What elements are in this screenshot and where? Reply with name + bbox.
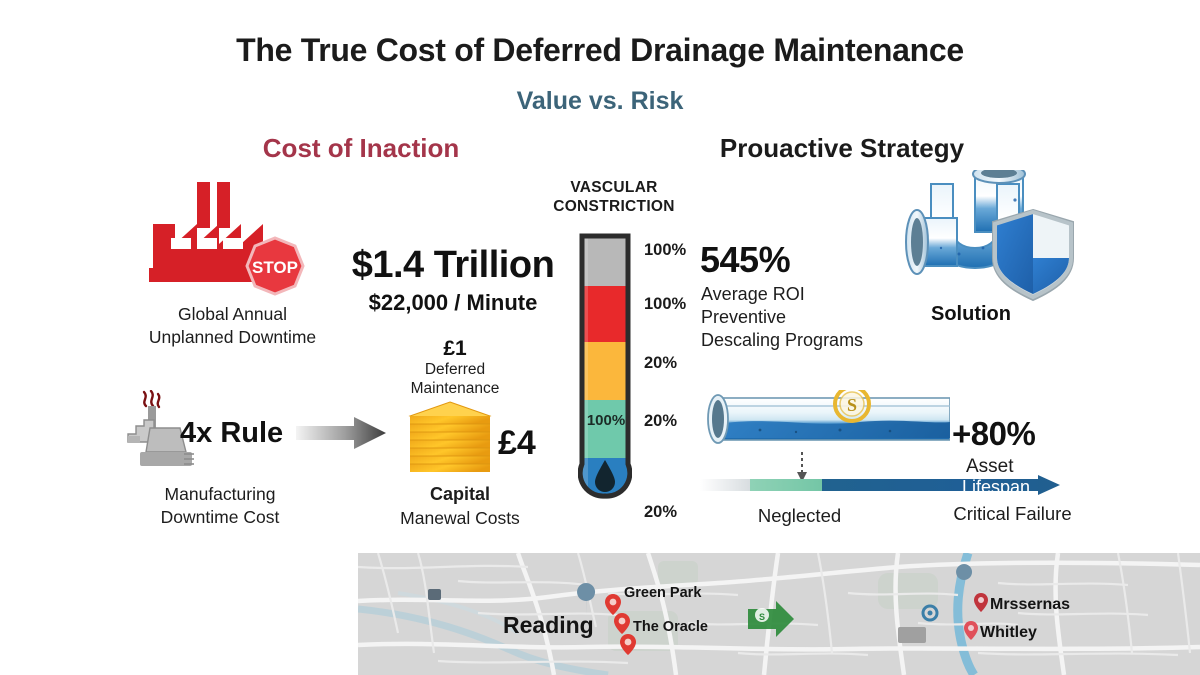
elbow-pipe-shield-icon (897, 170, 1077, 315)
page-subtitle: Value vs. Risk (0, 87, 1200, 116)
capital-caption-line2: Manewal Costs (380, 507, 540, 530)
deferred-caption-line1: Deferred (380, 361, 530, 380)
factory-stop-icon: STOP (145, 182, 310, 297)
page-title: The True Cost of Deferred Drainage Maint… (0, 32, 1200, 69)
annual-downtime-value: $1.4 Trillion (338, 244, 568, 287)
four-x-rule-label: 4x Rule (180, 417, 283, 450)
solution-caption: Solution (905, 303, 1037, 326)
svg-text:S: S (759, 612, 765, 622)
map-label-whitley: Whitley (980, 624, 1037, 642)
vial-side-percent-3: 20% (644, 354, 677, 373)
map-pin-the-oracle[interactable] (614, 613, 630, 634)
map-pin-green-park[interactable] (605, 594, 621, 615)
mfg-caption-line2: Downtime Cost (130, 506, 310, 529)
svg-text:S: S (847, 395, 857, 415)
mfg-caption-line1: Manufacturing (130, 483, 310, 506)
vial-side-percent-4: 20% (644, 412, 677, 431)
deferred-caption-line2: Maintenance (380, 380, 530, 399)
map-city-label: Reading (503, 612, 594, 639)
deferred-caption: Deferred Maintenance (380, 361, 530, 399)
lifespan-value: +80% (952, 415, 1035, 453)
svg-text:STOP: STOP (252, 258, 298, 277)
roi-value: 545% (700, 239, 790, 281)
lifespan-word-lifespan: Lifespan (962, 477, 1030, 498)
vial-title-line2: CONSTRICTION (528, 197, 700, 216)
infographic-canvas: The True Cost of Deferred Drainage Maint… (0, 0, 1200, 675)
lifespan-word-asset: Asset (966, 456, 1014, 478)
map-label-green-park: Green Park (624, 585, 701, 601)
vial-title-line1: VASCULAR (528, 178, 700, 197)
map-label-mrssernas: Mrssernas (990, 596, 1070, 614)
bar-caption-neglected: Neglected (722, 505, 877, 527)
deferred-value: £1 (385, 337, 525, 361)
roi-caption-line2: Preventive (701, 306, 863, 329)
map-pin-mrssernas[interactable] (974, 593, 988, 612)
bar-caption-critical-failure: Critical Failure (930, 503, 1095, 525)
downtime-caption: Global Annual Unplanned Downtime (140, 303, 325, 349)
vial-title: VASCULAR CONSTRICTION (528, 178, 700, 217)
capital-value: £4 (498, 424, 536, 463)
map-pin-whitley[interactable] (964, 621, 978, 640)
roi-caption-line1: Average ROI (701, 283, 863, 306)
per-minute-value: $22,000 / Minute (338, 290, 568, 316)
downtime-caption-line1: Global Annual (140, 303, 325, 326)
vial-side-percent-2: 100% (644, 295, 686, 314)
horizontal-pipe-dollar-icon: S (700, 390, 950, 452)
roi-caption-line3: Descaling Programs (701, 329, 863, 352)
mfg-downtime-caption: Manufacturing Downtime Cost (130, 483, 310, 529)
column-heading-proactive-strategy: Prouactive Strategy (712, 133, 972, 164)
gold-coin-stack-icon (406, 400, 494, 478)
vial-side-percent-1: 100% (644, 241, 686, 260)
capital-caption-line1: Capital (380, 483, 540, 507)
vial-inner-percent: 100% (580, 412, 632, 429)
location-map[interactable]: S (358, 553, 1200, 675)
map-pin-secondary[interactable] (620, 634, 636, 655)
roi-caption: Average ROI Preventive Descaling Program… (701, 283, 863, 352)
map-label-the-oracle: The Oracle (633, 619, 708, 635)
right-arrow-icon (296, 415, 386, 451)
column-heading-cost-of-inaction: Cost of Inaction (236, 133, 486, 164)
vial-side-percent-5: 20% (644, 503, 677, 522)
downtime-caption-line2: Unplanned Downtime (140, 326, 325, 349)
vascular-constriction-vial (578, 232, 632, 500)
capital-caption: Capital Manewal Costs (380, 483, 540, 530)
